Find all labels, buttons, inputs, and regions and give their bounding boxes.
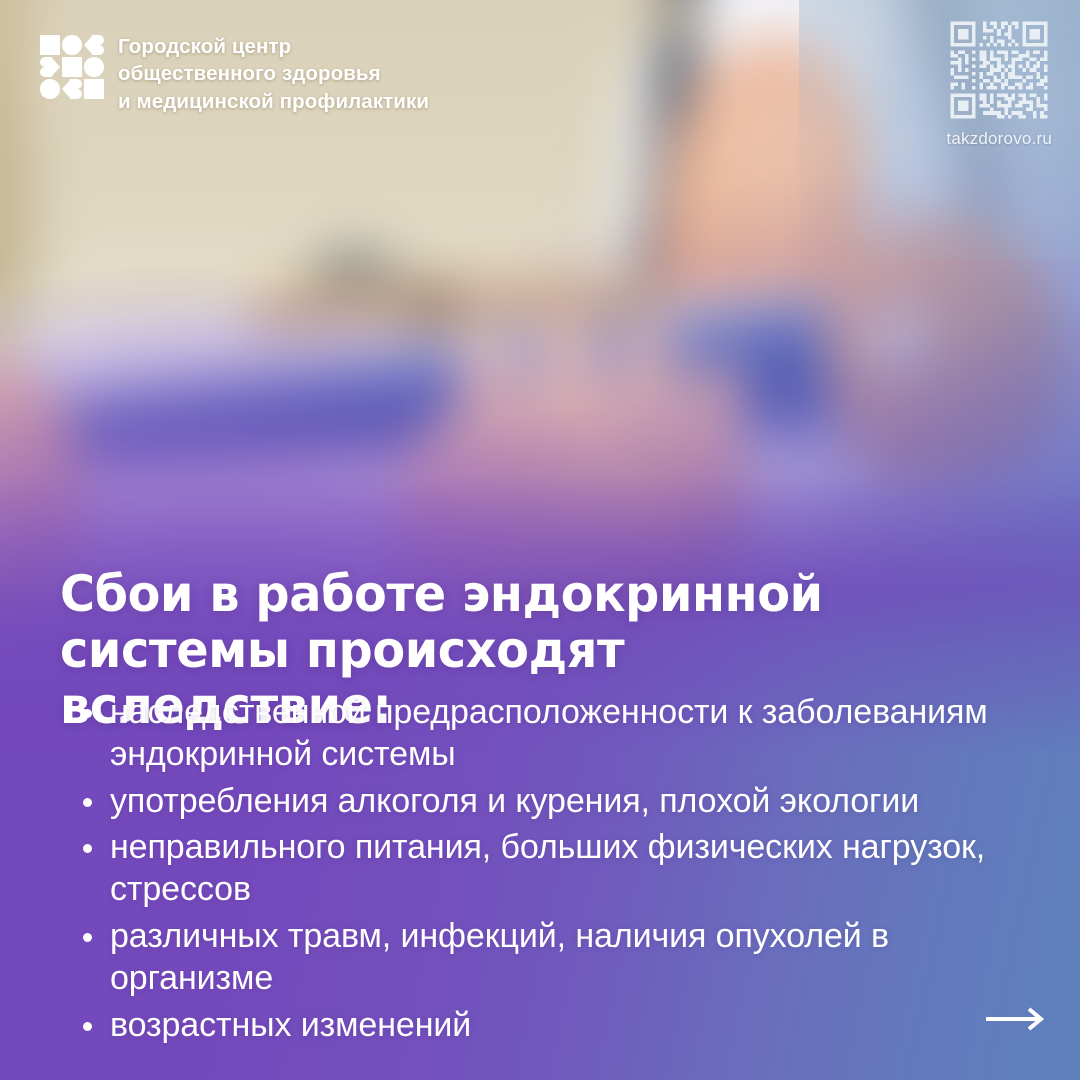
arrow-right-icon[interactable] xyxy=(984,1006,1046,1032)
qr-code-icon[interactable] xyxy=(947,18,1051,122)
logo-shape-heart-right xyxy=(40,57,60,77)
causes-list: наследственной предрасположенности к заб… xyxy=(78,692,1008,1052)
logo-shape-circle xyxy=(40,79,60,99)
logo-shape-heart-left xyxy=(84,35,104,55)
list-item: наследственной предрасположенности к заб… xyxy=(78,692,1008,776)
list-item: возрастных изменений xyxy=(78,1005,1008,1047)
logo-shape-circle xyxy=(84,57,104,77)
social-card: Городской центр общественного здоровья и… xyxy=(0,0,1080,1080)
logo-text: Городской центр общественного здоровья и… xyxy=(118,33,429,115)
list-item: неправильного питания, больших физически… xyxy=(78,827,1008,911)
qr-block[interactable]: takzdorovo.ru xyxy=(946,18,1052,149)
logo-shape-circle xyxy=(62,35,82,55)
list-item: употребления алкоголя и курения, плохой … xyxy=(78,781,1008,823)
logo-shape-square xyxy=(62,57,82,77)
logo-shape-heart-left xyxy=(62,79,82,99)
logo-shape-square xyxy=(40,35,60,55)
logo: Городской центр общественного здоровья и… xyxy=(40,33,429,115)
logo-shape-square xyxy=(84,79,104,99)
qr-caption: takzdorovo.ru xyxy=(946,129,1052,149)
list-item: различных травм, инфекций, наличия опухо… xyxy=(78,916,1008,1000)
logo-mark-icon xyxy=(40,35,104,99)
